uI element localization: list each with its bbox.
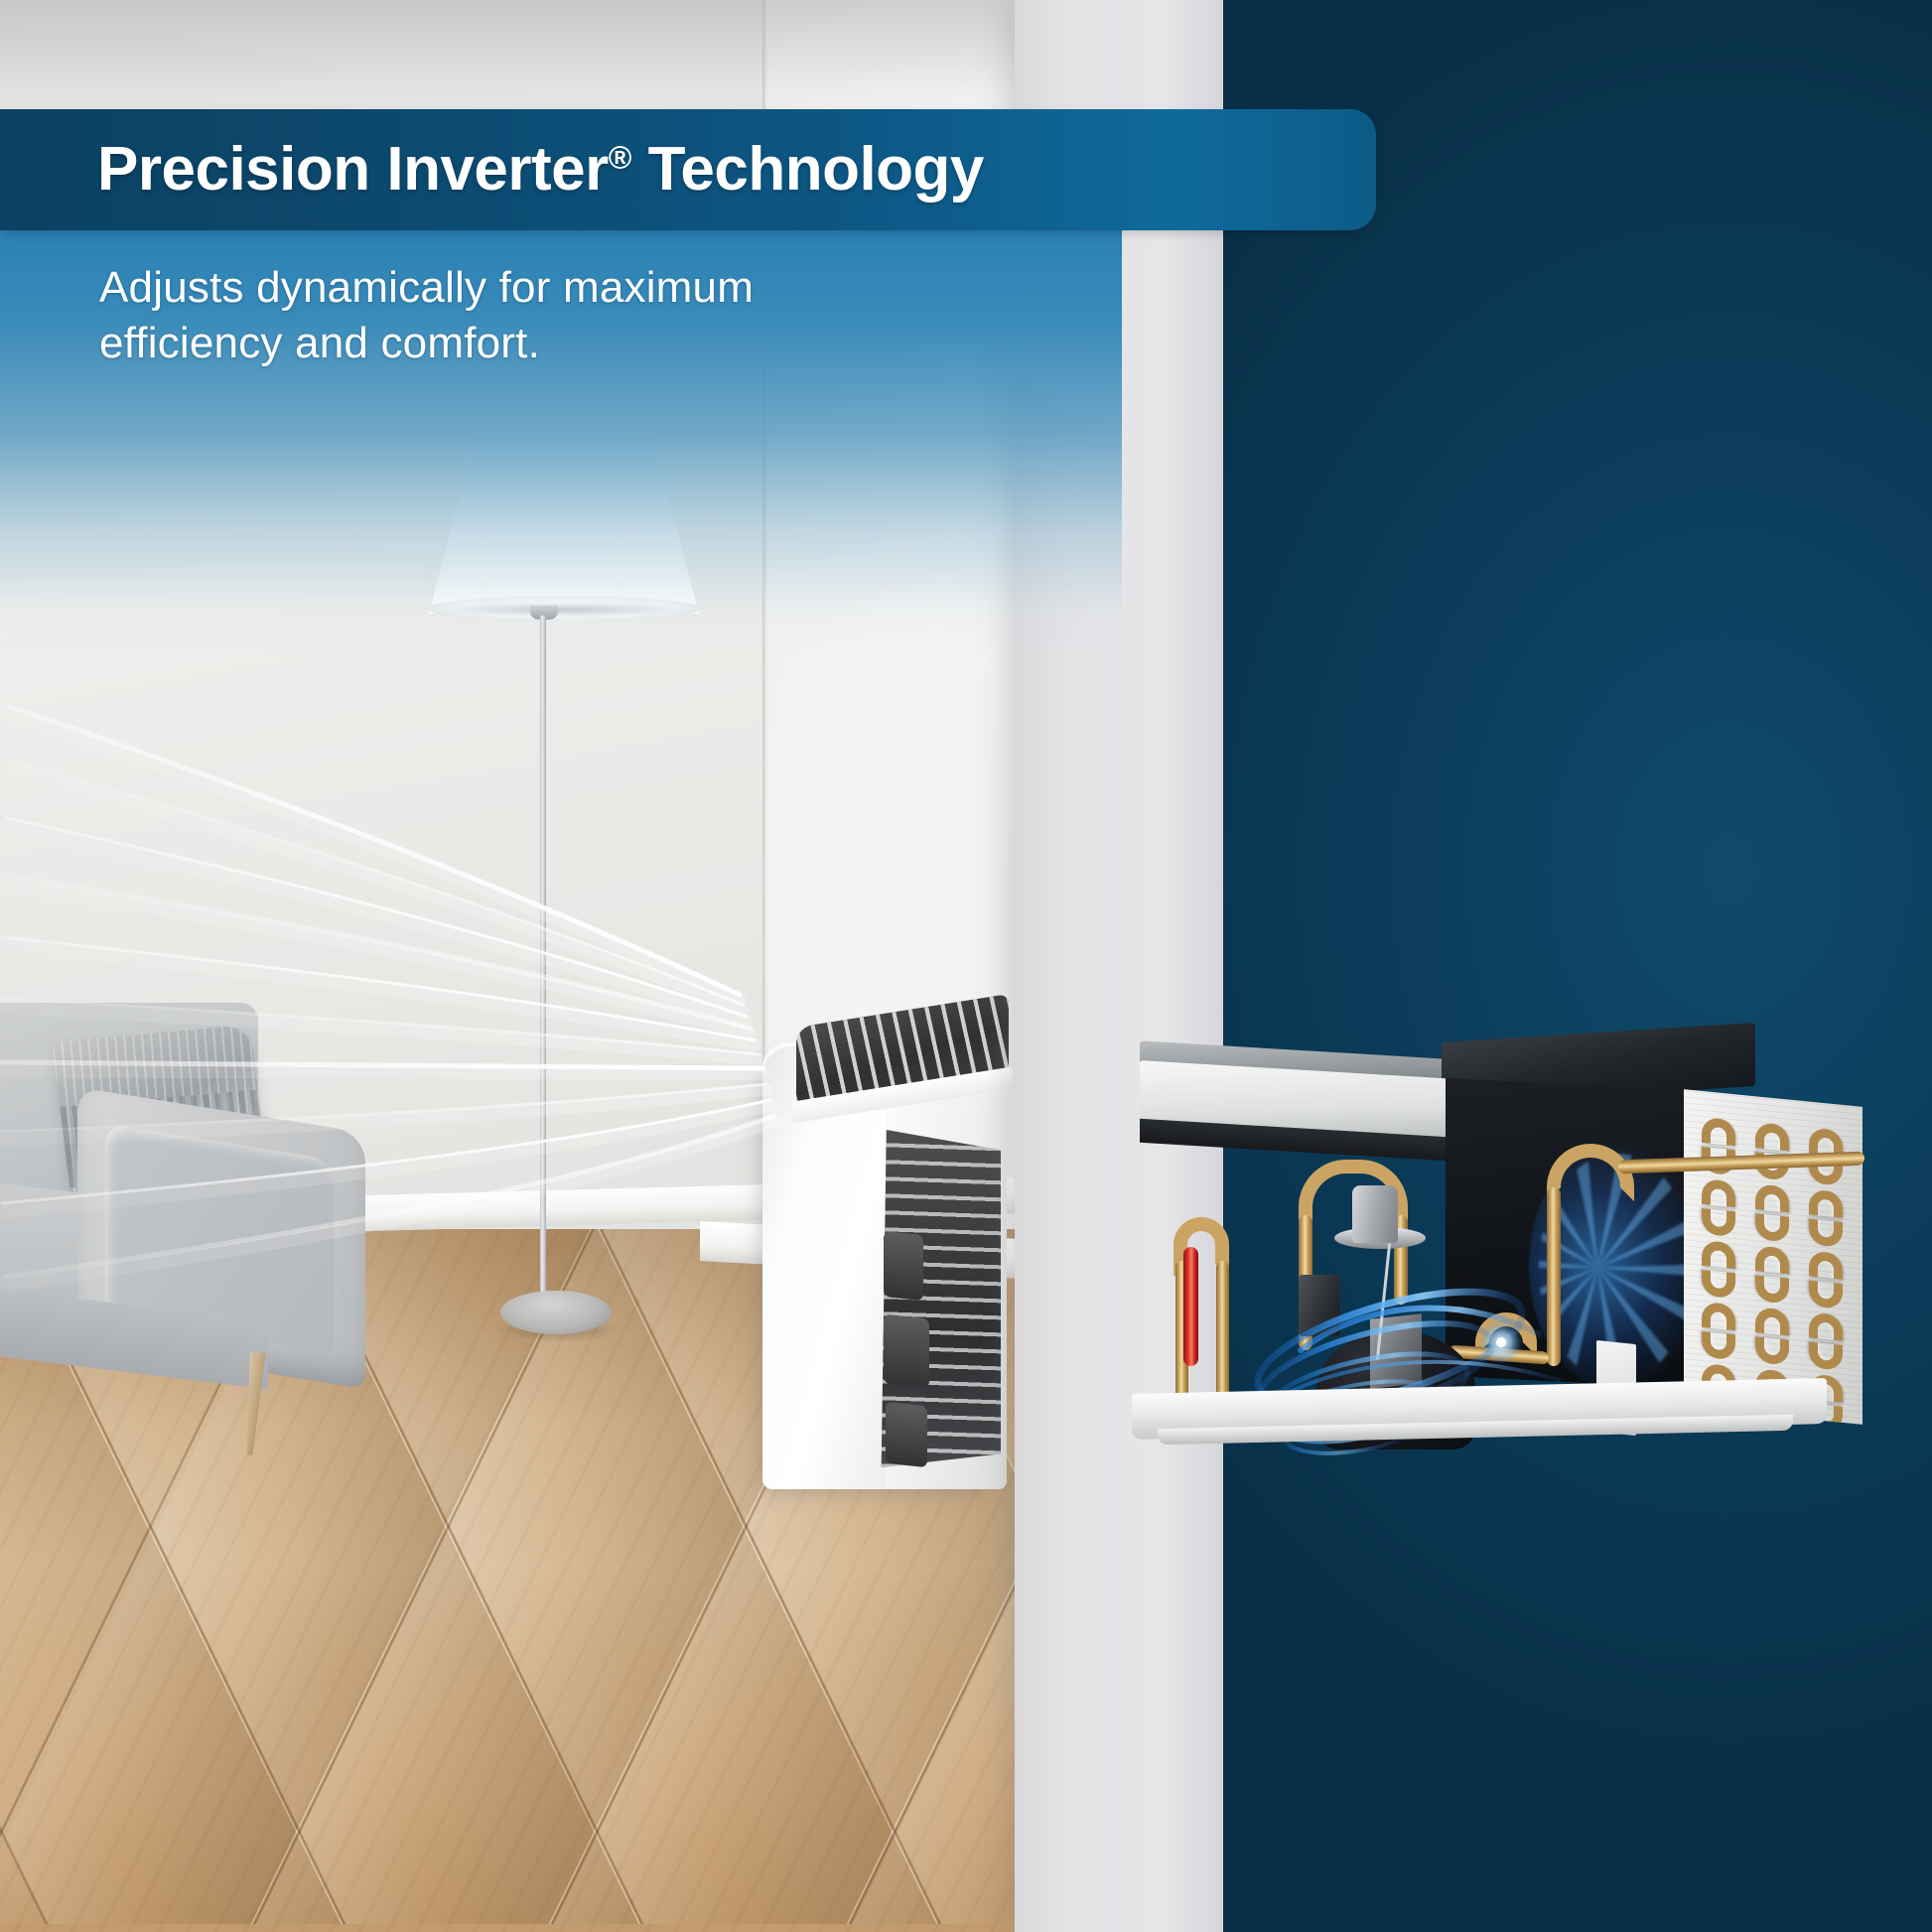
compressor-assembly — [1122, 1033, 1932, 1449]
air-conditioner-unit — [762, 1003, 1023, 1499]
wall-pillar — [1015, 0, 1223, 1932]
headline-text-after: Technology — [648, 135, 984, 204]
page-title: Precision Inverter® Technology — [97, 127, 984, 212]
registered-trademark-icon: ® — [609, 139, 631, 175]
lamp-shade — [429, 437, 699, 614]
lamp-shade-inner-shadow — [449, 603, 679, 617]
sofa — [0, 1003, 447, 1420]
lamp-base — [500, 1291, 612, 1334]
subheadline: Adjusts dynamically for maximum efficien… — [99, 260, 794, 371]
headline-text-before: Precision Inverter — [97, 135, 609, 204]
subheadline-line-1: Adjusts dynamically for maximum — [99, 260, 794, 316]
ac-vent-slot — [884, 1231, 923, 1301]
subheadline-line-2: efficiency and comfort. — [99, 316, 794, 371]
lamp-pole — [540, 616, 546, 1311]
promo-banner: Precision Inverter® Technology Adjusts d… — [0, 0, 1932, 1932]
ac-vent-slot — [884, 1314, 929, 1389]
ac-vent-slot — [886, 1402, 927, 1467]
inverter-compressor-panel — [1122, 0, 1932, 1932]
condenser-coil — [1684, 1089, 1863, 1425]
